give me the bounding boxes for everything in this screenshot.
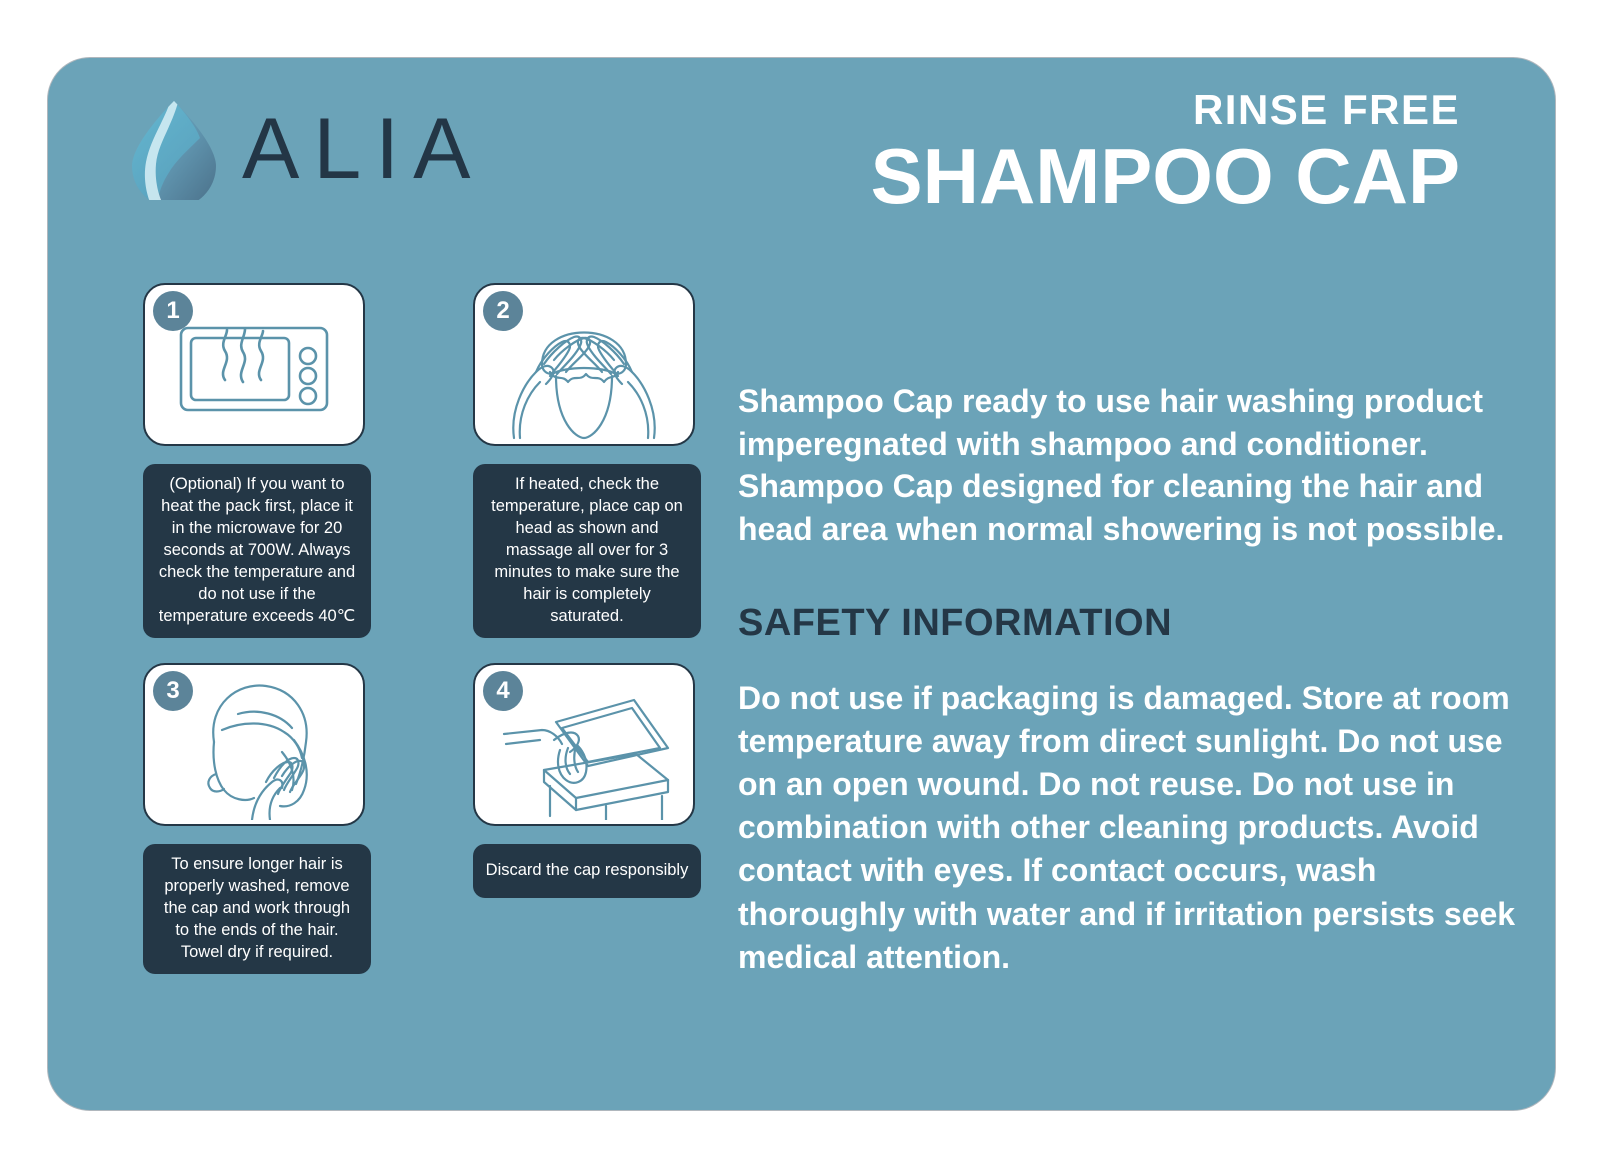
step-4-caption: Discard the cap responsibly (473, 844, 701, 898)
step-3-badge: 3 (153, 671, 193, 711)
brand-lockup: ALIA (128, 98, 484, 200)
product-description: Shampoo Cap ready to use hair washing pr… (738, 380, 1528, 550)
page-title: SHAMPOO CAP (871, 134, 1460, 220)
water-droplet-icon (128, 98, 220, 200)
step-2-badge: 2 (483, 291, 523, 331)
product-label-card: ALIA RINSE FREE SHAMPOO CAP 1 (48, 58, 1555, 1110)
step-3-caption: To ensure longer hair is properly washed… (143, 844, 371, 974)
step-1: 1 (Optional) If you want to heat (143, 283, 371, 638)
step-2-panel: 2 (473, 283, 695, 446)
step-4-panel: 4 (473, 663, 695, 826)
step-1-badge: 1 (153, 291, 193, 331)
step-2-caption: If heated, check the temperature, place … (473, 464, 701, 638)
step-1-caption: (Optional) If you want to heat the pack … (143, 464, 371, 638)
safety-information-heading: SAFETY INFORMATION (738, 602, 1528, 645)
brand-name: ALIA (242, 106, 484, 192)
step-1-panel: 1 (143, 283, 365, 446)
product-title-block: RINSE FREE SHAMPOO CAP (871, 88, 1460, 220)
title-kicker: RINSE FREE (871, 88, 1460, 132)
safety-information-text: Do not use if packaging is damaged. Stor… (738, 677, 1528, 979)
step-4: 4 (473, 663, 701, 898)
information-column: Shampoo Cap ready to use hair washing pr… (738, 348, 1528, 1011)
step-4-badge: 4 (483, 671, 523, 711)
step-3: 3 (143, 663, 371, 974)
step-3-panel: 3 (143, 663, 365, 826)
step-2: 2 (473, 283, 701, 638)
